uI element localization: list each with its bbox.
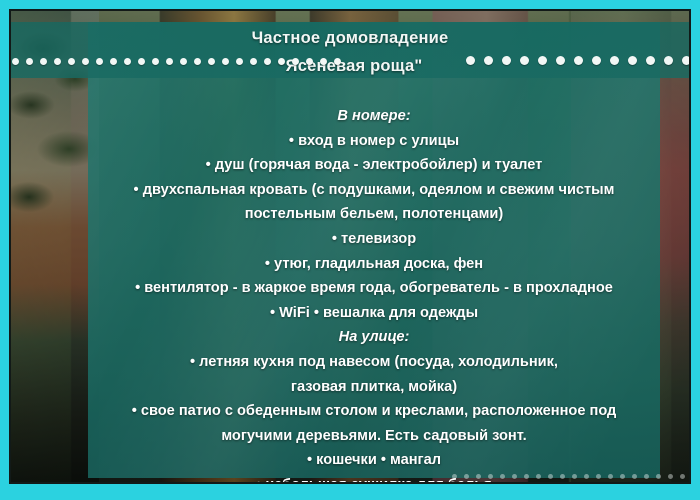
amenity-line: газовая плитка, мойка): [88, 375, 660, 400]
decorative-dot: [180, 58, 187, 65]
decorative-dot: [194, 58, 201, 65]
amenity-line: • двухспальная кровать (с подушками, оде…: [88, 178, 660, 203]
decorative-dot: [236, 58, 243, 65]
decorative-dot: [668, 474, 673, 479]
decorative-dot: [628, 56, 637, 65]
decorative-dot: [278, 58, 285, 65]
decorative-dot: [222, 58, 229, 65]
decorative-dot: [96, 58, 103, 65]
decorative-dot: [292, 58, 299, 65]
amenity-line: • утюг, гладильная доска, фен: [88, 252, 660, 277]
decorative-dot: [680, 474, 685, 479]
poster-title: Частное домовладение "Ясеневая роща": [0, 24, 700, 80]
amenity-line: могучими деревьями. Есть садовый зонт.: [88, 424, 660, 449]
decorative-dot: [124, 58, 131, 65]
decorative-dot: [152, 58, 159, 65]
decorative-dot: [68, 58, 75, 65]
amenity-line: • вентилятор - в жаркое время года, обог…: [88, 276, 660, 301]
decorative-dot: [12, 58, 19, 65]
section-heading: В номере:: [88, 104, 660, 129]
dot-row-right: [466, 56, 700, 65]
decorative-dot: [138, 58, 145, 65]
decorative-dot: [320, 58, 327, 65]
title-line-1: Частное домовладение: [0, 24, 700, 52]
amenity-line: • душ (горячая вода - электробойлер) и т…: [88, 153, 660, 178]
decorative-dot: [208, 58, 215, 65]
decorative-dot: [26, 58, 33, 65]
dot-row-left: [12, 58, 341, 65]
decorative-dot: [646, 56, 655, 65]
decorative-dot: [664, 56, 673, 65]
amenity-line: • свое патио с обеденным столом и кресла…: [88, 399, 660, 424]
amenity-line: • вход в номер с улицы: [88, 129, 660, 154]
amenity-line: • кошечки • мангал: [88, 448, 660, 473]
decorative-dot: [574, 56, 583, 65]
decorative-dot: [110, 58, 117, 65]
decorative-dot: [592, 56, 601, 65]
decorative-dot: [40, 58, 47, 65]
decorative-dot: [466, 56, 475, 65]
amenity-line: • летняя кухня под навесом (посуда, холо…: [88, 350, 660, 375]
amenity-line: • WiFi • вешалка для одежды: [88, 301, 660, 326]
decorative-dot: [692, 474, 697, 479]
amenities-text-block: В номере:• вход в номер с улицы• душ (го…: [88, 104, 660, 498]
decorative-dot: [556, 56, 565, 65]
decorative-dot: [538, 56, 547, 65]
decorative-dot: [306, 58, 313, 65]
decorative-dot: [610, 56, 619, 65]
section-heading: На улице:: [88, 325, 660, 350]
decorative-dot: [264, 58, 271, 65]
decorative-dot: [682, 56, 691, 65]
poster-root: Частное домовладение "Ясеневая роща" В н…: [0, 0, 700, 500]
decorative-dot: [166, 58, 173, 65]
outer-border-top: [0, 0, 700, 9]
decorative-dot: [484, 56, 493, 65]
amenity-line: • телевизор: [88, 227, 660, 252]
decorative-dot: [82, 58, 89, 65]
decorative-dot: [502, 56, 511, 65]
decorative-dot: [520, 56, 529, 65]
amenity-line: • небольшая сушилка для белья: [88, 473, 660, 498]
decorative-dot: [334, 58, 341, 65]
amenity-line: постельным бельем, полотенцами): [88, 202, 660, 227]
decorative-dot: [250, 58, 257, 65]
decorative-dot: [54, 58, 61, 65]
